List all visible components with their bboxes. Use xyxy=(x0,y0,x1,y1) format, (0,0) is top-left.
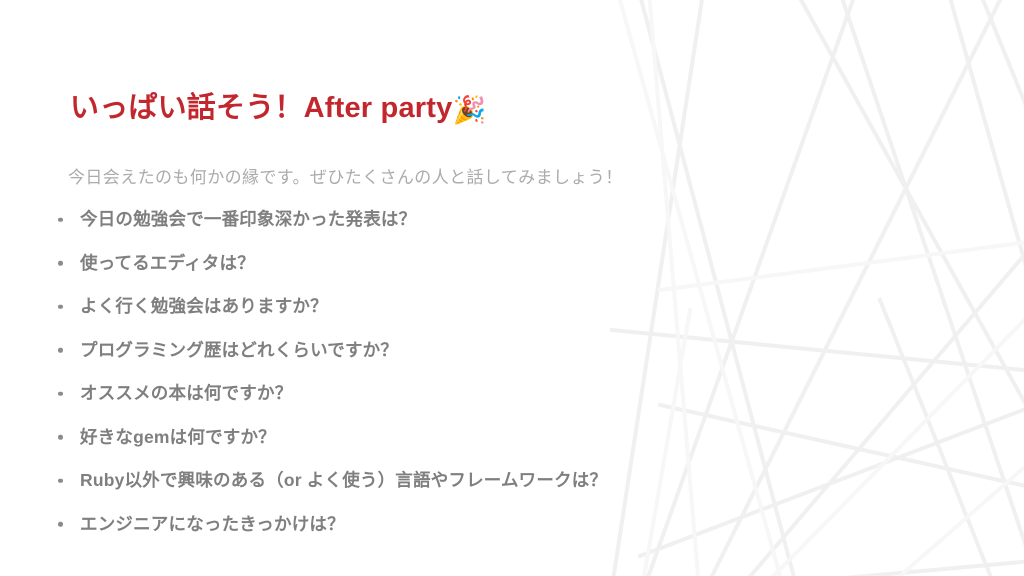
list-item: 今日の勉強会で一番印象深かった発表は？ xyxy=(56,198,1004,242)
list-item: 好きなgemは何ですか？ xyxy=(56,416,1004,460)
bullet-dot-icon xyxy=(58,522,63,527)
page-title: いっぱい話そう！After party🎉 xyxy=(70,91,486,126)
list-item: 使ってるエディタは？ xyxy=(56,242,1004,286)
page-title-text: いっぱい話そう！After party xyxy=(70,92,452,124)
bullet-dot-icon xyxy=(58,348,63,353)
bullet-dot-icon xyxy=(58,218,63,223)
bullet-dot-icon xyxy=(58,479,63,484)
list-item-label: 好きなgemは何ですか？ xyxy=(80,427,276,447)
slide-canvas: いっぱい話そう！After party🎉 今日会えたのも何かの縁です。ぜひたくさ… xyxy=(0,0,1024,576)
list-item: エンジニアになったきっかけは？ xyxy=(56,503,1004,547)
list-item-label: エンジニアになったきっかけは？ xyxy=(80,514,345,534)
slide-content: いっぱい話そう！After party🎉 今日会えたのも何かの縁です。ぜひたくさ… xyxy=(0,0,1024,576)
bullet-dot-icon xyxy=(58,305,63,310)
party-popper-icon: 🎉 xyxy=(452,95,486,125)
list-item-label: Ruby以外で興味のある（or よく使う）言語やフレームワークは？ xyxy=(80,470,607,490)
list-item-label: プログラミング歴はどれくらいですか？ xyxy=(80,340,398,360)
list-item-label: よく行く勉強会はありますか？ xyxy=(80,296,328,316)
slide-subtitle: 今日会えたのも何かの縁です。ぜひたくさんの人と話してみましょう！ xyxy=(68,163,623,188)
bullet-dot-icon xyxy=(58,435,63,440)
list-item: オススメの本は何ですか？ xyxy=(56,372,1004,416)
bullet-dot-icon xyxy=(58,392,63,397)
bullet-dot-icon xyxy=(58,261,63,266)
list-item: Ruby以外で興味のある（or よく使う）言語やフレームワークは？ xyxy=(56,459,1004,503)
list-item: プログラミング歴はどれくらいですか？ xyxy=(56,329,1004,373)
list-item: よく行く勉強会はありますか？ xyxy=(56,285,1004,329)
list-item-label: 今日の勉強会で一番印象深かった発表は？ xyxy=(80,209,416,229)
list-item-label: オススメの本は何ですか？ xyxy=(80,383,292,403)
list-item-label: 使ってるエディタは？ xyxy=(80,253,255,273)
question-list: 今日の勉強会で一番印象深かった発表は？ 使ってるエディタは？ よく行く勉強会はあ… xyxy=(56,198,1004,546)
